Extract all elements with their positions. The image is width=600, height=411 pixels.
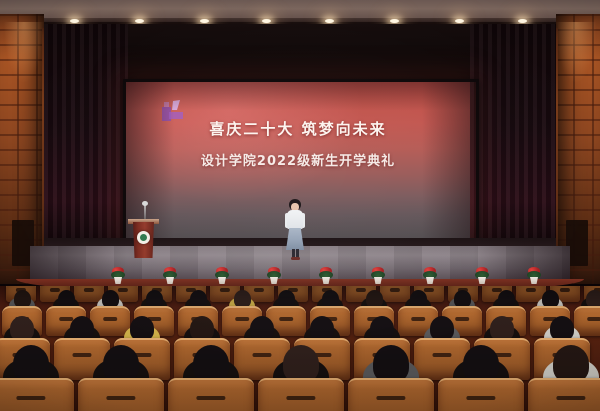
auditorium-seat <box>78 378 164 411</box>
stage-flower-pot <box>422 266 438 284</box>
auditorium-photo: 喜庆二十大 筑梦向未来 设计学院2022级新生开学典礼 <box>0 0 600 411</box>
flower-pot <box>114 277 122 284</box>
flower-pot <box>374 277 382 284</box>
auditorium-seat <box>438 378 524 411</box>
stage-flower-pot <box>370 266 386 284</box>
university-emblem <box>137 231 150 244</box>
flower-pot <box>166 277 174 284</box>
audience-member-head <box>13 345 49 383</box>
ceiling-downlight <box>200 19 209 23</box>
stage-flower-pot <box>266 266 282 284</box>
right-wood-wall-panel <box>556 14 600 284</box>
left-stage-curtain <box>44 24 128 246</box>
stage-flower-pot <box>110 266 126 284</box>
stage-flower-pot <box>214 266 230 284</box>
stage-flower-pot <box>526 266 542 284</box>
auditorium-seat <box>258 378 344 411</box>
flower-pot <box>218 277 226 284</box>
flower-pot <box>426 277 434 284</box>
audience-member-head <box>463 345 499 383</box>
ceiling-downlight <box>135 19 144 23</box>
seated-audience <box>0 286 600 411</box>
ceiling-downlight <box>325 19 334 23</box>
auditorium-seat <box>168 378 254 411</box>
flower-pot <box>478 277 486 284</box>
audience-member-head <box>193 345 229 383</box>
audience-member-head <box>553 345 589 383</box>
stage-flower-pot <box>162 266 178 284</box>
flower-pot <box>530 277 538 284</box>
auditorium-seat <box>348 378 434 411</box>
stage-flower-pot <box>474 266 490 284</box>
auditorium-seat <box>528 378 600 411</box>
left-wood-wall-panel <box>0 14 44 284</box>
presenter-on-stage <box>283 199 307 261</box>
stage-flower-pot <box>318 266 334 284</box>
audience-member-head <box>103 345 139 383</box>
presenter-blouse <box>287 210 303 229</box>
flower-pot <box>270 277 278 284</box>
audience-member-head <box>283 345 319 383</box>
ceiling-downlight <box>70 19 79 23</box>
audience-member-head <box>373 345 409 383</box>
flower-pot <box>322 277 330 284</box>
ceiling-downlight <box>455 19 464 23</box>
presenter-shoes <box>291 257 300 260</box>
ceiling-downlight <box>262 19 271 23</box>
presenter-skirt <box>286 228 304 250</box>
ceiling-downlight <box>518 19 527 23</box>
auditorium-seat <box>0 378 74 411</box>
right-stage-curtain <box>470 24 556 246</box>
ceiling-downlight <box>390 19 399 23</box>
